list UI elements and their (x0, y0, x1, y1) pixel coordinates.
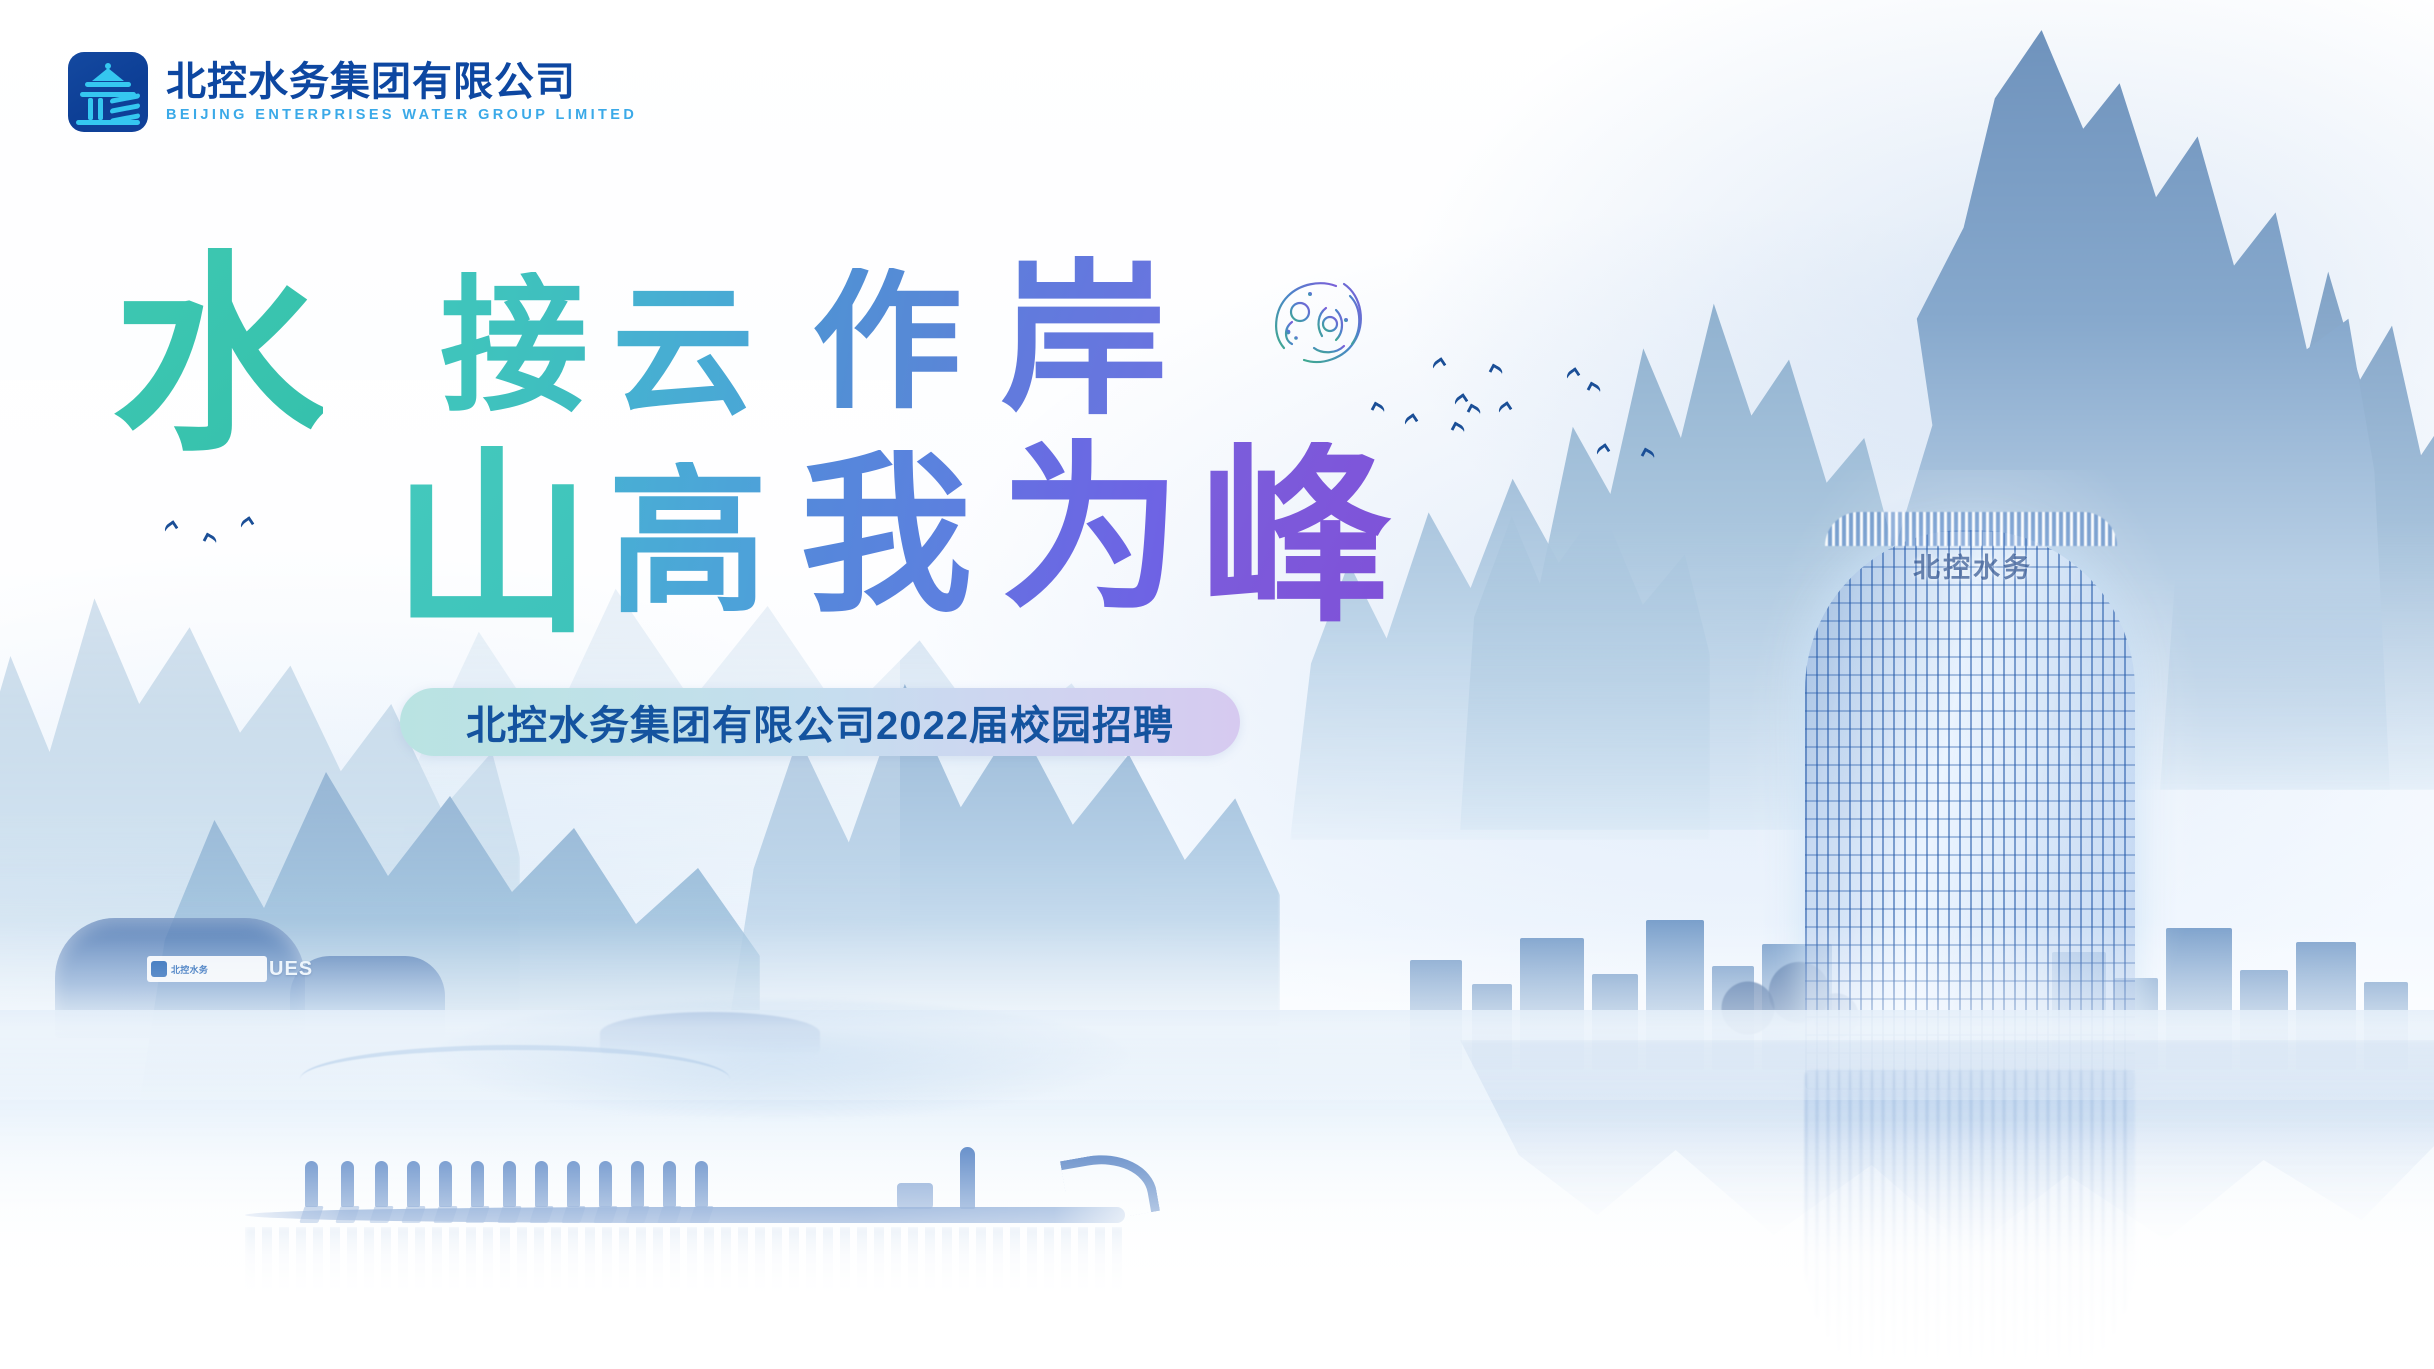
bird-icon (1641, 447, 1657, 461)
bird-icon (1497, 401, 1513, 416)
bird-icon (163, 520, 179, 535)
recruitment-banner[interactable]: 北控水务集团有限公司2022届校园招聘 (400, 688, 1240, 756)
recruitment-poster: 北控水务 北控水务 UES (0, 0, 2434, 1369)
plant-brand-label: 北控水务 (171, 963, 208, 976)
bird-icon (1371, 401, 1387, 415)
logo-company-name-cn: 北控水务集团有限公司 (166, 60, 637, 105)
boat-drum (897, 1183, 933, 1209)
decorative-seal-icon (1258, 262, 1378, 382)
bird-icon (1451, 421, 1467, 435)
plant-logo-icon (151, 961, 167, 977)
boat-reflection (245, 1227, 1125, 1301)
riverside-pavilion (600, 1012, 820, 1054)
ink-wash-landscape-background: 北控水务 北控水务 UES (0, 0, 2434, 1369)
bird-icon (1403, 413, 1419, 428)
logo-text-block: 北控水务集团有限公司 BEIJING ENTERPRISES WATER GRO… (166, 60, 637, 125)
dragon-boat (245, 1135, 1145, 1265)
plant-ues-label: UES (269, 958, 313, 981)
tower-sign-text: 北控水务 (1858, 548, 2088, 582)
boat-helmsman (960, 1147, 975, 1209)
bird-flock-left (160, 515, 290, 585)
tower-crown (1825, 512, 2117, 546)
logo-company-name-en: BEIJING ENTERPRISES WATER GROUP LIMITED (166, 106, 637, 124)
bird-icon (1453, 393, 1469, 408)
bird-icon (1595, 443, 1611, 458)
bird-icon (239, 516, 255, 531)
temple-of-heaven-icon (68, 52, 148, 132)
bird-icon (1489, 363, 1505, 377)
bird-icon (203, 532, 219, 546)
plant-signboard: 北控水务 (147, 956, 267, 982)
bird-icon (1431, 357, 1447, 372)
bewg-headquarters-tower (1805, 530, 2135, 1090)
company-logo[interactable]: 北控水务集团有限公司 BEIJING ENTERPRISES WATER GRO… (68, 52, 637, 132)
bird-icon (1565, 367, 1581, 382)
bird-icon (1467, 403, 1483, 417)
bird-icon (1587, 381, 1603, 395)
recruitment-banner-text: 北控水务集团有限公司2022届校园招聘 (466, 693, 1174, 751)
